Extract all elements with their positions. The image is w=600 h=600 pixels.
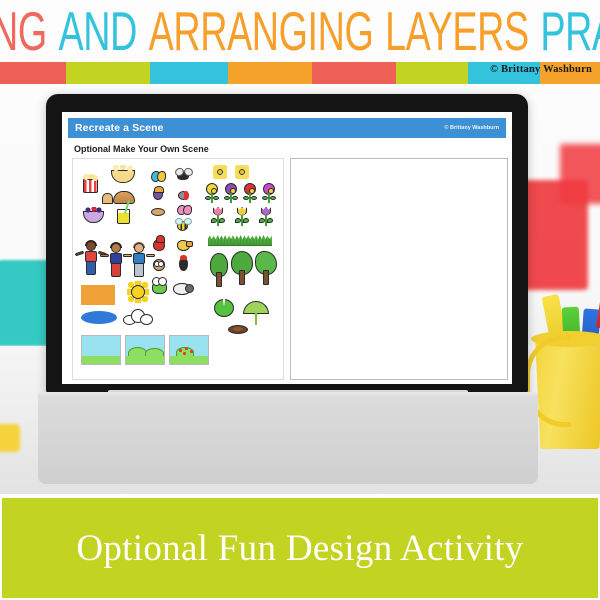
laptop-base (38, 392, 538, 484)
clipart-tree-round[interactable] (231, 251, 253, 285)
color-bar-segment-5 (396, 62, 468, 84)
clipart-scene-berry-bush[interactable] (169, 335, 209, 365)
slide-subtitle: Optional Make Your Own Scene (74, 144, 506, 154)
laptop: Recreate a Scene © Brittany Washburn Opt… (38, 94, 538, 494)
slide-copyright: © Brittany Washburn (444, 125, 499, 131)
clipart-umbrella[interactable] (243, 301, 269, 325)
title-word-practice: PRACTICE (540, 0, 600, 61)
clipart-bread-slice[interactable] (102, 193, 113, 204)
clipart-frog[interactable] (152, 281, 167, 294)
clipart-owl[interactable] (153, 259, 165, 271)
color-bar-segment-0 (0, 62, 66, 84)
color-bar-segment-1 (66, 62, 150, 84)
page-title: RESIZING AND ARRANGING LAYERS PRACTICE (0, 4, 600, 58)
clipart-scene-hills[interactable] (125, 335, 165, 365)
prop-yellow-block (0, 424, 20, 452)
bottom-banner-text: Optional Fun Design Activity (76, 527, 523, 570)
clipart-palette[interactable] (72, 158, 284, 380)
clipart-daisy-1[interactable] (213, 165, 227, 179)
clipart-juice-glass[interactable] (117, 209, 130, 224)
color-bar-segment-2 (150, 62, 228, 84)
clipart-pink-butterfly[interactable] (177, 205, 191, 214)
slide: Recreate a Scene © Brittany Washburn Opt… (62, 112, 512, 384)
clipart-flower-yellow[interactable] (205, 183, 219, 203)
photo-scene: Recreate a Scene © Brittany Washburn Opt… (0, 84, 600, 494)
clipart-tulip-yellow[interactable] (235, 207, 249, 226)
clipart-cardinal[interactable] (153, 239, 165, 251)
title-word-resizing: RESIZING (0, 0, 48, 61)
clipart-tree-oval[interactable] (208, 253, 230, 287)
clipart-sheep[interactable] (173, 283, 191, 295)
scene-canvas[interactable] (290, 158, 508, 380)
title-word-and: AND (58, 0, 138, 61)
clipart-sun[interactable] (127, 281, 149, 303)
clipart-tulip-pink[interactable] (211, 207, 225, 226)
color-bar-segment-4 (312, 62, 396, 84)
clipart-woodpecker[interactable] (179, 258, 188, 271)
clipart-flower-purple[interactable] (224, 183, 238, 203)
clipart-purple-beetle[interactable] (153, 189, 163, 200)
color-bar-segment-3 (228, 62, 312, 84)
clipart-kid-3[interactable] (129, 243, 149, 277)
slide-body (68, 158, 506, 384)
clipart-ladybug[interactable] (178, 191, 189, 200)
clipart-orange-rectangle[interactable] (81, 285, 115, 305)
clipart-kid-2[interactable] (106, 243, 126, 277)
clipart-grass-strip[interactable] (208, 234, 272, 246)
clipart-log[interactable] (228, 325, 248, 334)
clipart-black-fly[interactable] (177, 171, 189, 180)
clipart-cloud[interactable] (123, 309, 153, 325)
clipart-lilypad[interactable] (214, 299, 234, 317)
slide-title: Recreate a Scene (75, 122, 164, 134)
clipart-scene-plain[interactable] (81, 335, 121, 365)
title-word-layers: LAYERS (384, 0, 529, 61)
laptop-screen: Recreate a Scene © Brittany Washburn Opt… (62, 112, 512, 384)
clipart-popcorn-box[interactable] (83, 179, 98, 193)
clipart-worm[interactable] (151, 208, 165, 216)
clipart-berry-bowl[interactable] (83, 211, 104, 223)
clipart-flower-magenta[interactable] (262, 183, 276, 203)
clipart-tulip-purple[interactable] (259, 207, 273, 226)
slide-header-bar: Recreate a Scene © Brittany Washburn (68, 118, 506, 138)
clipart-blue-butterfly[interactable] (151, 171, 165, 181)
clipart-blue-ellipse[interactable] (81, 311, 117, 324)
copyright-top: © Brittany Washburn (490, 64, 592, 75)
laptop-lid: Recreate a Scene © Brittany Washburn Opt… (46, 94, 528, 394)
clipart-popcorn-bowl[interactable] (111, 170, 135, 183)
title-word-arranging: ARRANGING (148, 0, 374, 61)
bottom-banner: Optional Fun Design Activity (2, 498, 598, 598)
clipart-kid-1[interactable] (81, 241, 101, 275)
clipart-daisy-2[interactable] (235, 165, 249, 179)
clipart-bread-loaf[interactable] (113, 191, 135, 204)
clipart-flower-red[interactable] (243, 183, 257, 203)
clipart-duck[interactable] (177, 240, 190, 251)
clipart-tree-bushy[interactable] (255, 251, 277, 285)
title-band: RESIZING AND ARRANGING LAYERS PRACTICE (0, 0, 600, 62)
clipart-bee[interactable] (177, 221, 188, 231)
